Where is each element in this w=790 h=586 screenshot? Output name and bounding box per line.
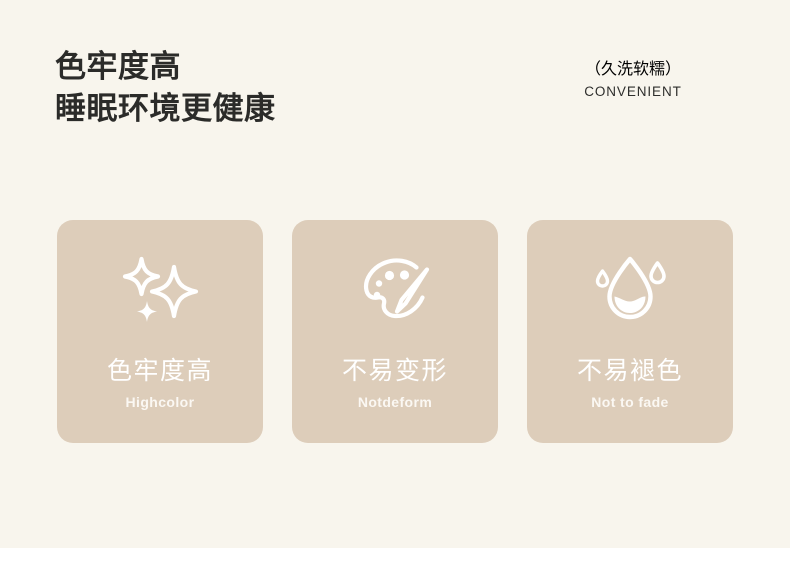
feature-card-title: 色牢度高 [107,356,213,386]
feature-card-subtitle: Highcolor [126,394,195,410]
page-title-line-2: 睡眠环境更健康 [55,88,276,130]
header: 色牢度高 睡眠环境更健康 （久洗软糯） CONVENIENT [0,0,790,200]
palette-icon [351,250,439,330]
feature-card-subtitle: Not to fade [591,394,669,410]
feature-card-not-to-fade[interactable]: 不易褪色 Not to fade [527,220,733,443]
feature-card-list: 色牢度高 Highcolor 不易变形 Notdeform [57,220,733,443]
feature-card-subtitle: Notdeform [358,394,432,410]
header-badge: （久洗软糯） CONVENIENT [533,55,733,103]
sparkle-icon [116,250,204,330]
header-badge-english: CONVENIENT [533,81,733,103]
header-badge-chinese: （久洗软糯） [585,61,681,78]
water-drop-icon [586,250,674,330]
page-title: 色牢度高 睡眠环境更健康 [55,46,276,130]
feature-card-title: 不易褪色 [577,356,683,386]
feature-card-title: 不易变形 [342,356,448,386]
promo-banner: 色牢度高 睡眠环境更健康 （久洗软糯） CONVENIENT 色牢度高 [0,0,790,586]
feature-card-highcolor[interactable]: 色牢度高 Highcolor [57,220,263,443]
page-title-line-1: 色牢度高 [55,46,276,88]
feature-card-notdeform[interactable]: 不易变形 Notdeform [292,220,498,443]
